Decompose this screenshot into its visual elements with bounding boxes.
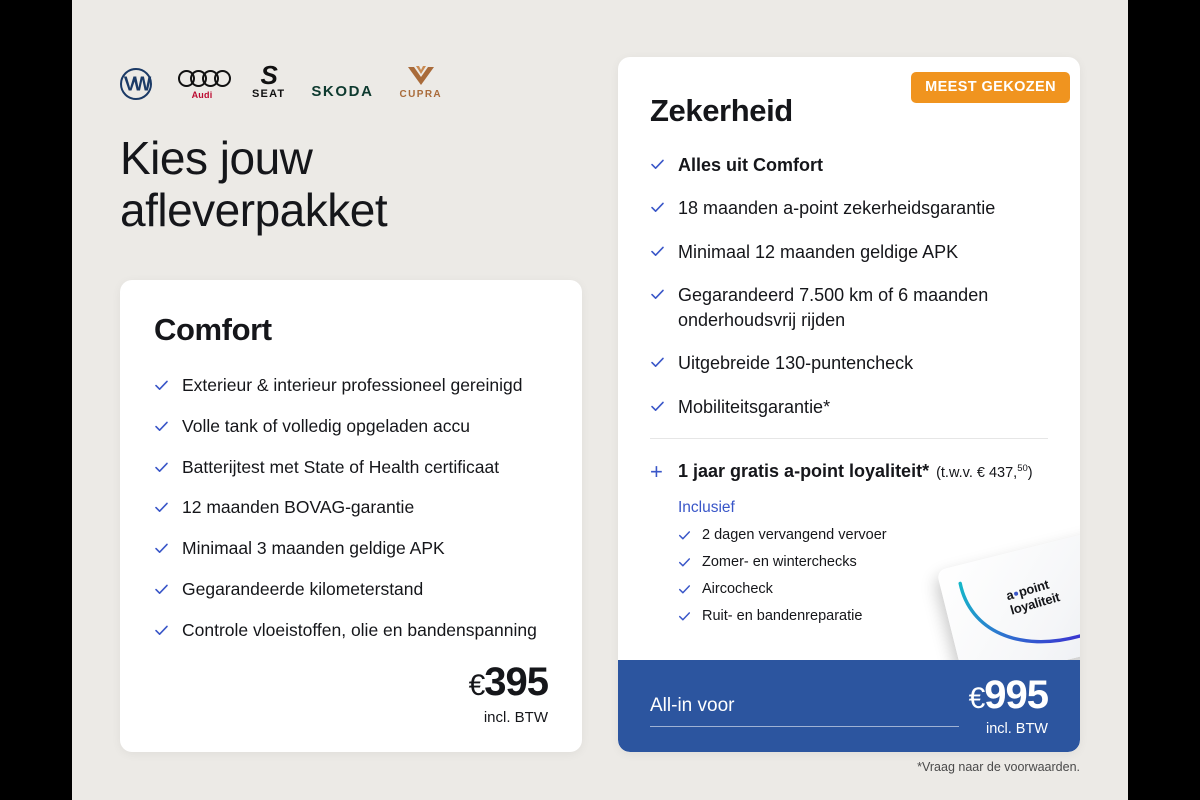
list-item: Alles uit Comfort	[650, 153, 1048, 177]
list-item: Gegarandeerde kilometerstand	[154, 578, 548, 602]
check-icon	[650, 200, 665, 215]
check-icon	[650, 244, 665, 259]
check-icon	[678, 556, 691, 569]
brand-volkswagen: VW	[120, 68, 152, 100]
feature-label: Gegarandeerd 7.500 km of 6 maanden onder…	[678, 283, 1048, 332]
allin-price: €995	[969, 675, 1048, 715]
check-icon	[678, 583, 691, 596]
volkswagen-logo-label: VW	[124, 74, 149, 94]
audi-logo-label: Audi	[192, 90, 213, 100]
check-icon	[154, 419, 169, 434]
audi-rings-icon	[178, 70, 226, 87]
allin-price-bar: All-in voor €995 incl. BTW	[618, 660, 1080, 752]
check-icon	[650, 399, 665, 414]
sub-feature-label: Aircocheck	[702, 580, 773, 599]
check-icon	[154, 623, 169, 638]
loyalty-bonus-value: (t.w.v. € 437,50)	[936, 465, 1033, 481]
seat-mark-icon: S	[260, 64, 276, 87]
section-divider	[650, 438, 1048, 439]
sub-feature-label: Ruit- en bandenreparatie	[702, 607, 862, 626]
allin-price-note: incl. BTW	[969, 721, 1048, 737]
brand-skoda: SKODA	[311, 83, 373, 100]
price-amount: 995	[984, 673, 1048, 717]
page-canvas: VW Audi S SEAT SKODA C	[72, 0, 1128, 800]
zekerheid-feature-list: Alles uit Comfort 18 maanden a-point zek…	[650, 153, 1048, 419]
comfort-price-note: incl. BTW	[469, 709, 548, 726]
allin-rule	[650, 726, 959, 727]
list-item: Mobiliteitsgarantie*	[650, 395, 1048, 419]
list-item: Uitgebreide 130-puntencheck	[650, 351, 1048, 375]
feature-label: Mobiliteitsgarantie*	[678, 395, 830, 419]
feature-label: Minimaal 3 maanden geldige APK	[182, 537, 445, 561]
sub-feature-label: 2 dagen vervangend vervoer	[702, 526, 887, 545]
package-card-comfort[interactable]: Comfort Exterieur & interieur profession…	[120, 280, 582, 752]
check-icon	[678, 529, 691, 542]
feature-label: Batterijtest met State of Health certifi…	[182, 456, 499, 480]
page-title: Kies jouw afleverpakket	[120, 132, 540, 237]
list-item: 12 maanden BOVAG-garantie	[154, 496, 548, 520]
loyalty-bonus-label: 1 jaar gratis a-point loyaliteit*	[678, 461, 929, 481]
cupra-logo-label: CUPRA	[400, 89, 443, 100]
list-item: Controle vloeistoffen, olie en bandenspa…	[154, 619, 548, 643]
status-badge: MEEST GEKOZEN	[911, 72, 1070, 103]
feature-label: Controle vloeistoffen, olie en bandenspa…	[182, 619, 537, 643]
check-icon	[154, 582, 169, 597]
brand-logo-bar: VW Audi S SEAT SKODA C	[120, 52, 442, 100]
feature-label: Alles uit Comfort	[678, 153, 823, 177]
check-icon	[154, 541, 169, 556]
currency-symbol: €	[469, 669, 485, 702]
currency-symbol: €	[969, 682, 985, 715]
check-icon	[650, 157, 665, 172]
list-item: Minimaal 3 maanden geldige APK	[154, 537, 548, 561]
plus-icon: +	[650, 461, 665, 483]
feature-label: 12 maanden BOVAG-garantie	[182, 496, 414, 520]
list-item: Exterieur & interieur professioneel gere…	[154, 374, 548, 398]
seat-logo-label: SEAT	[252, 88, 285, 100]
loyalty-bonus-row: + 1 jaar gratis a-point loyaliteit*(t.w.…	[650, 459, 1048, 482]
feature-label: Volle tank of volledig opgeladen accu	[182, 415, 470, 439]
feature-label: Minimaal 12 maanden geldige APK	[678, 240, 958, 264]
list-item: 18 maanden a-point zekerheidsgarantie	[650, 196, 1048, 220]
price-amount: 395	[484, 660, 548, 704]
skoda-logo-label: SKODA	[311, 83, 373, 100]
comfort-price: €395	[469, 662, 548, 702]
volkswagen-logo-icon: VW	[120, 68, 152, 100]
check-icon	[154, 500, 169, 515]
inclusief-label: Inclusief	[678, 499, 1048, 517]
list-item: 2 dagen vervangend vervoer	[678, 526, 1048, 545]
list-item: Gegarandeerd 7.500 km of 6 maanden onder…	[650, 283, 1048, 332]
check-icon	[154, 460, 169, 475]
check-icon	[154, 378, 169, 393]
list-item: Batterijtest met State of Health certifi…	[154, 456, 548, 480]
comfort-card-title: Comfort	[154, 312, 548, 348]
screenshot-stage: VW Audi S SEAT SKODA C	[0, 0, 1200, 800]
allin-label: All-in voor	[650, 695, 969, 717]
cupra-mark-icon	[406, 65, 436, 87]
check-icon	[650, 355, 665, 370]
brand-seat: S SEAT	[252, 64, 285, 100]
sub-feature-label: Zomer- en winterchecks	[702, 553, 857, 572]
check-icon	[678, 610, 691, 623]
footnote: *Vraag naar de voorwaarden.	[917, 760, 1080, 774]
feature-label: Uitgebreide 130-puntencheck	[678, 351, 913, 375]
comfort-price-block: €395 incl. BTW	[469, 662, 548, 726]
allin-price-wrap: €995 incl. BTW	[969, 675, 1048, 737]
check-icon	[650, 287, 665, 302]
feature-label: 18 maanden a-point zekerheidsgarantie	[678, 196, 995, 220]
feature-label: Exterieur & interieur professioneel gere…	[182, 374, 522, 398]
package-card-zekerheid[interactable]: MEEST GEKOZEN Zekerheid Alles uit Comfor…	[618, 57, 1080, 752]
list-item: Volle tank of volledig opgeladen accu	[154, 415, 548, 439]
feature-label: Gegarandeerde kilometerstand	[182, 578, 423, 602]
brand-cupra: CUPRA	[400, 65, 443, 100]
comfort-feature-list: Exterieur & interieur professioneel gere…	[154, 374, 548, 643]
brand-audi: Audi	[178, 70, 226, 100]
list-item: Minimaal 12 maanden geldige APK	[650, 240, 1048, 264]
allin-label-wrap: All-in voor	[650, 695, 969, 717]
